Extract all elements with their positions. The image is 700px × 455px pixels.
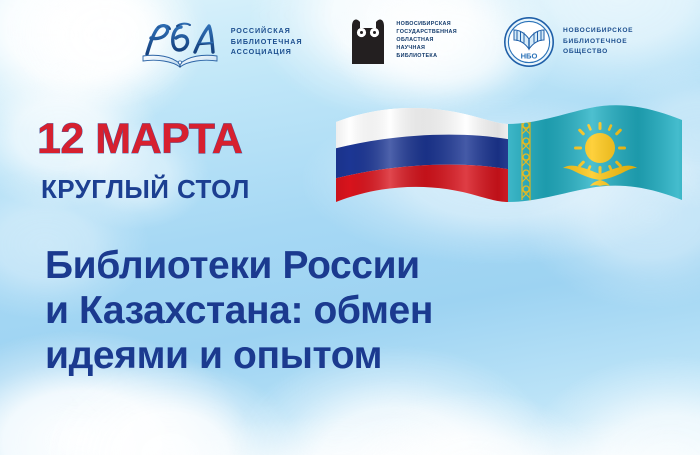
logo-nbo-line-3: ОБЩЕСТВО: [563, 47, 633, 58]
event-date: 12 МАРТА: [37, 118, 242, 161]
owl-emblem-icon: [348, 16, 388, 66]
event-poster: РОССИЙСКАЯ БИБЛИОТЕЧНАЯ АССОЦИАЦИЯ НОВОС…: [0, 0, 700, 455]
page-title-line-3: идеями и опытом: [45, 333, 670, 378]
logo-nbo: НБО НОВОСИБИРСКОЕ БИБЛИОТЕЧНОЕ ОБЩЕСТВО: [503, 16, 633, 68]
logo-ngonb-line-1: НОВОСИБИРСКАЯ: [396, 21, 457, 29]
logo-rba: РОССИЙСКАЯ БИБЛИОТЕЧНАЯ АССОЦИАЦИЯ: [137, 16, 303, 68]
logo-rba-line-2: БИБЛИОТЕЧНАЯ: [231, 37, 303, 48]
logo-nbo-line-1: НОВОСИБИРСКОЕ: [563, 26, 633, 37]
logo-ngonb: НОВОСИБИРСКАЯ ГОСУДАРСТВЕННАЯ ОБЛАСТНАЯ …: [348, 16, 457, 66]
logo-rba-line-3: АССОЦИАЦИЯ: [231, 47, 303, 58]
logo-nbo-monogram: НБО: [521, 52, 538, 61]
page-title: Библиотеки России и Казахстана: обмен ид…: [45, 243, 670, 379]
rba-book-emblem-icon: [137, 16, 223, 68]
logo-rba-line-1: РОССИЙСКАЯ: [231, 26, 303, 37]
logo-nbo-line-2: БИБЛИОТЕЧНОЕ: [563, 37, 633, 48]
logo-nbo-text: НОВОСИБИРСКОЕ БИБЛИОТЕЧНОЕ ОБЩЕСТВО: [563, 26, 633, 58]
organizer-logo-bar: РОССИЙСКАЯ БИБЛИОТЕЧНАЯ АССОЦИАЦИЯ НОВОС…: [0, 16, 700, 86]
open-book-shape: [143, 55, 217, 67]
flag-kazakhstan-icon: [502, 96, 700, 228]
logo-ngonb-line-5: БИБЛИОТЕКА: [396, 53, 457, 61]
waving-flags-graphic: [322, 96, 700, 228]
logo-ngonb-line-3: ОБЛАСТНАЯ: [396, 37, 457, 45]
page-title-line-2: и Казахстана: обмен: [45, 288, 670, 333]
flag-russia-icon: [322, 96, 522, 228]
logo-ngonb-line-2: ГОСУДАРСТВЕННАЯ: [396, 29, 457, 37]
logo-rba-text: РОССИЙСКАЯ БИБЛИОТЕЧНАЯ АССОЦИАЦИЯ: [231, 26, 303, 58]
logo-ngonb-line-4: НАУЧНАЯ: [396, 45, 457, 53]
event-type-label: КРУГЛЫЙ СТОЛ: [41, 176, 250, 202]
logo-ngonb-text: НОВОСИБИРСКАЯ ГОСУДАРСТВЕННАЯ ОБЛАСТНАЯ …: [396, 21, 457, 60]
page-title-line-1: Библиотеки России: [45, 243, 670, 288]
russia-kazakhstan-flags: [322, 96, 700, 228]
circular-open-book-emblem-icon: НБО: [503, 16, 555, 68]
